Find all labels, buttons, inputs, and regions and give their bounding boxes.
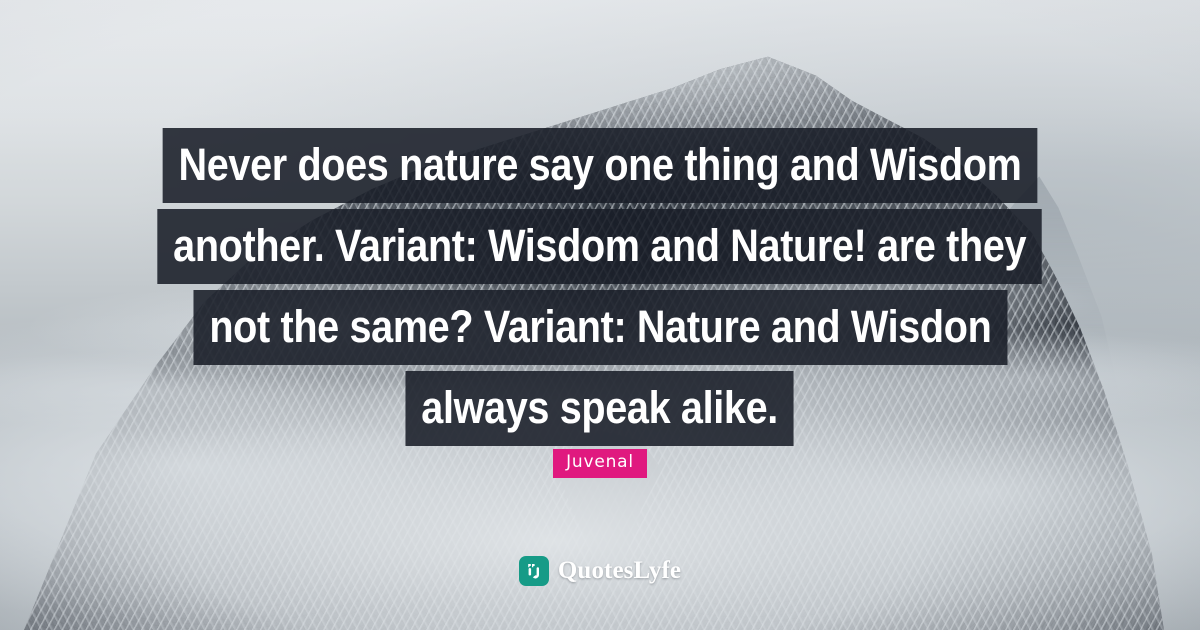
quote-line: not the same? Variant: Nature and Wisdon xyxy=(0,290,1200,365)
quote-line-text: Never does nature say one thing and Wisd… xyxy=(163,128,1038,203)
quote-card: Never does nature say one thing and Wisd… xyxy=(0,0,1200,630)
quote-line: Never does nature say one thing and Wisd… xyxy=(0,128,1200,203)
quote-line: another. Variant: Wisdom and Nature! are… xyxy=(0,209,1200,284)
brand-logo[interactable]: QuotesLyfe xyxy=(0,556,1200,586)
quote-line: always speak alike. xyxy=(0,371,1200,446)
author-name-badge[interactable]: Juvenal xyxy=(553,449,647,478)
brand-name: QuotesLyfe xyxy=(558,557,681,585)
quote-line-text: another. Variant: Wisdom and Nature! are… xyxy=(158,209,1043,284)
author-badge-container: Juvenal xyxy=(0,449,1200,478)
quote-line-text: not the same? Variant: Nature and Wisdon xyxy=(193,290,1007,365)
quote-line-text: always speak alike. xyxy=(406,371,794,446)
quote-text-block: Never does nature say one thing and Wisd… xyxy=(0,128,1200,452)
quote-mark-icon xyxy=(519,556,549,586)
